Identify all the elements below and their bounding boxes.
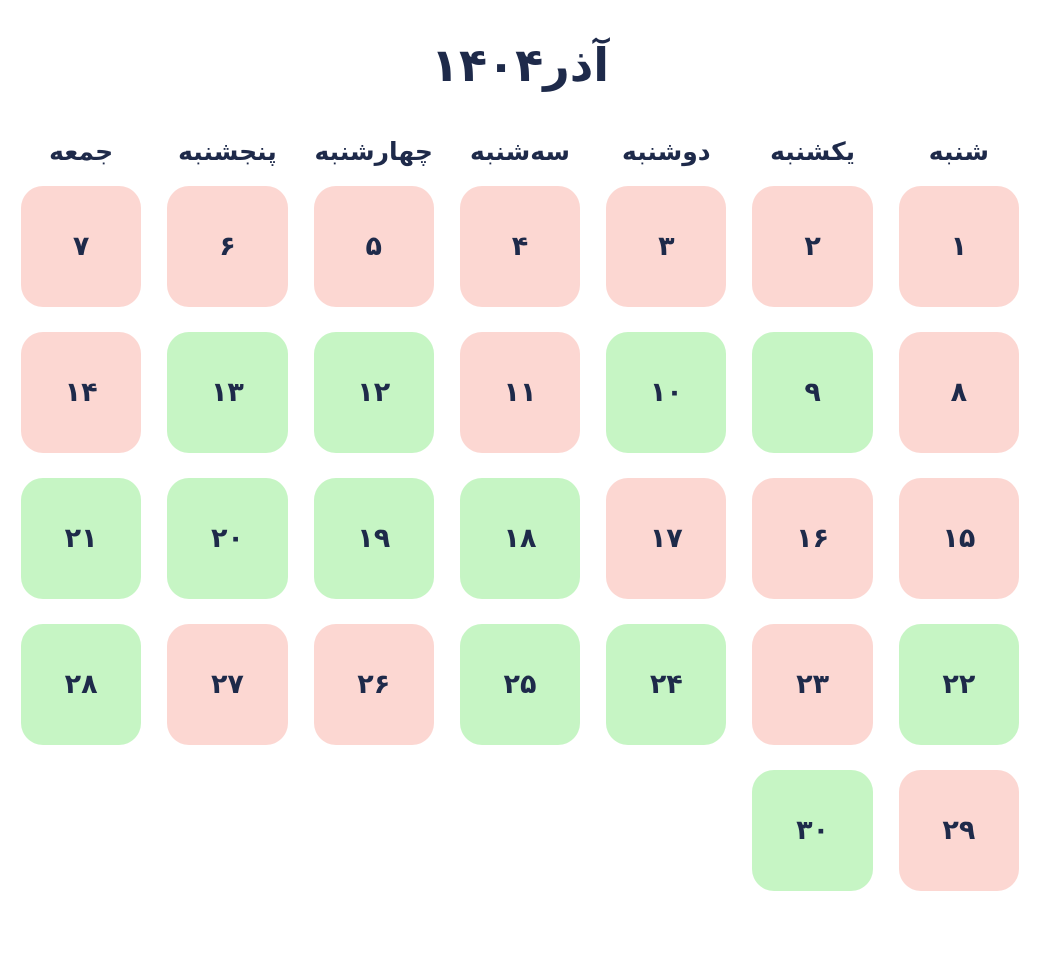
day-cell[interactable]: ۲۹	[899, 770, 1019, 891]
day-cell[interactable]: ۲۴	[606, 624, 726, 745]
day-cell[interactable]: ۴	[460, 186, 580, 307]
day-cell[interactable]: ۲۸	[21, 624, 141, 745]
day-cell[interactable]: ۲۳	[752, 624, 872, 745]
day-cell[interactable]: ۱۶	[752, 478, 872, 599]
weekday-header-6: جمعه	[21, 135, 141, 169]
day-cell[interactable]: ۲۰	[167, 478, 287, 599]
day-cell[interactable]: ۱۴	[21, 332, 141, 453]
day-cell[interactable]: ۱۸	[460, 478, 580, 599]
day-cell[interactable]: ۱۹	[314, 478, 434, 599]
day-cell[interactable]: ۱۲	[314, 332, 434, 453]
day-cell[interactable]: ۱۵	[899, 478, 1019, 599]
weekday-header-row: شنبهیکشنبهدوشنبهسه‌شنبهچهارشنبهپنجشنبهجم…	[0, 135, 1040, 169]
day-cell-empty	[21, 770, 141, 891]
day-cell[interactable]: ۱۰	[606, 332, 726, 453]
day-cell[interactable]: ۳۰	[752, 770, 872, 891]
persian-calendar: آذر۱۴۰۴ شنبهیکشنبهدوشنبهسه‌شنبهچهارشنبهپ…	[0, 0, 1040, 964]
day-cell-empty	[314, 770, 434, 891]
day-cell[interactable]: ۲۲	[899, 624, 1019, 745]
day-cell-empty	[167, 770, 287, 891]
day-cell[interactable]: ۶	[167, 186, 287, 307]
day-cell[interactable]: ۸	[899, 332, 1019, 453]
weekday-header-4: چهارشنبه	[314, 135, 434, 169]
day-cell[interactable]: ۹	[752, 332, 872, 453]
day-cell-empty	[606, 770, 726, 891]
day-cell[interactable]: ۲۱	[21, 478, 141, 599]
day-cell[interactable]: ۵	[314, 186, 434, 307]
weekday-header-3: سه‌شنبه	[460, 135, 580, 169]
day-cell[interactable]: ۳	[606, 186, 726, 307]
page-title: آذر۱۴۰۴	[0, 0, 1040, 93]
day-cell[interactable]: ۲۷	[167, 624, 287, 745]
day-cell[interactable]: ۲۵	[460, 624, 580, 745]
day-cell[interactable]: ۱	[899, 186, 1019, 307]
weekday-header-0: شنبه	[899, 135, 1019, 169]
day-cell[interactable]: ۲	[752, 186, 872, 307]
weekday-header-1: یکشنبه	[752, 135, 872, 169]
weekday-header-5: پنجشنبه	[167, 135, 287, 169]
day-cell[interactable]: ۱۷	[606, 478, 726, 599]
day-cell[interactable]: ۲۶	[314, 624, 434, 745]
day-cell[interactable]: ۱۱	[460, 332, 580, 453]
days-grid: ۱۲۳۴۵۶۷۸۹۱۰۱۱۱۲۱۳۱۴۱۵۱۶۱۷۱۸۱۹۲۰۲۱۲۲۲۳۲۴۲…	[0, 186, 1040, 891]
weekday-header-2: دوشنبه	[606, 135, 726, 169]
day-cell[interactable]: ۷	[21, 186, 141, 307]
day-cell[interactable]: ۱۳	[167, 332, 287, 453]
day-cell-empty	[460, 770, 580, 891]
